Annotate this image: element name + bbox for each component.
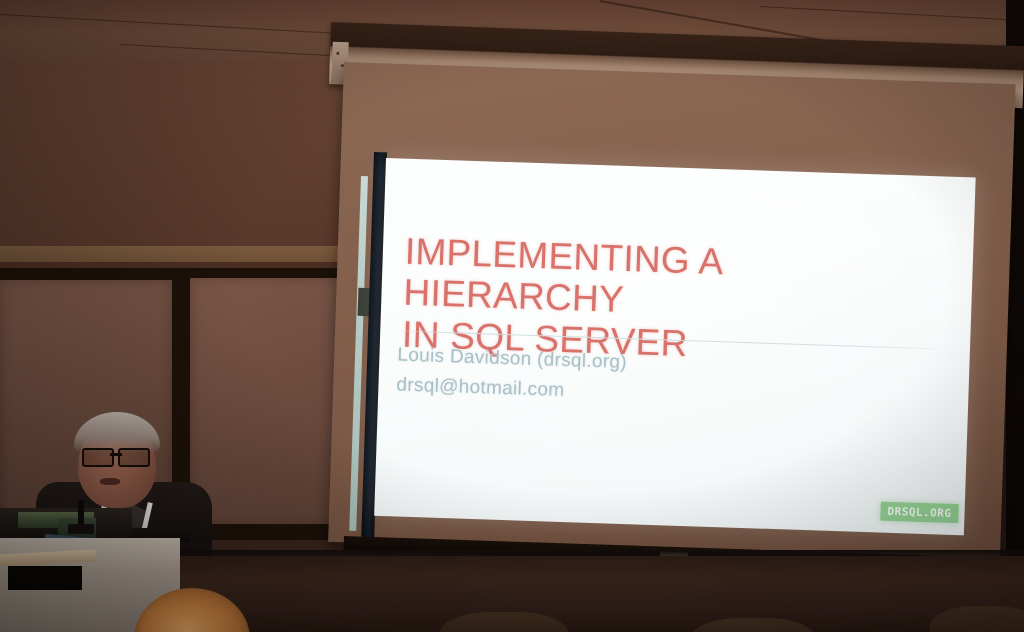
floor: [180, 556, 1024, 632]
podium-shelf-opening: [8, 566, 82, 590]
presenter-mouth: [100, 478, 120, 485]
bracket-screw: [336, 52, 339, 55]
presenter-glasses: [82, 448, 150, 464]
microphone-stem: [78, 500, 84, 526]
drsql-logo: DRSQL.ORG: [880, 502, 959, 524]
ceiling-tile-line: [760, 6, 1024, 21]
glasses-bridge: [110, 453, 122, 456]
microphone-base: [68, 524, 94, 534]
presentation-photo: IMPLEMENTING A HIERARCHY IN SQL SERVER L…: [0, 0, 1024, 632]
projected-slide: IMPLEMENTING A HIERARCHY IN SQL SERVER L…: [374, 158, 976, 535]
